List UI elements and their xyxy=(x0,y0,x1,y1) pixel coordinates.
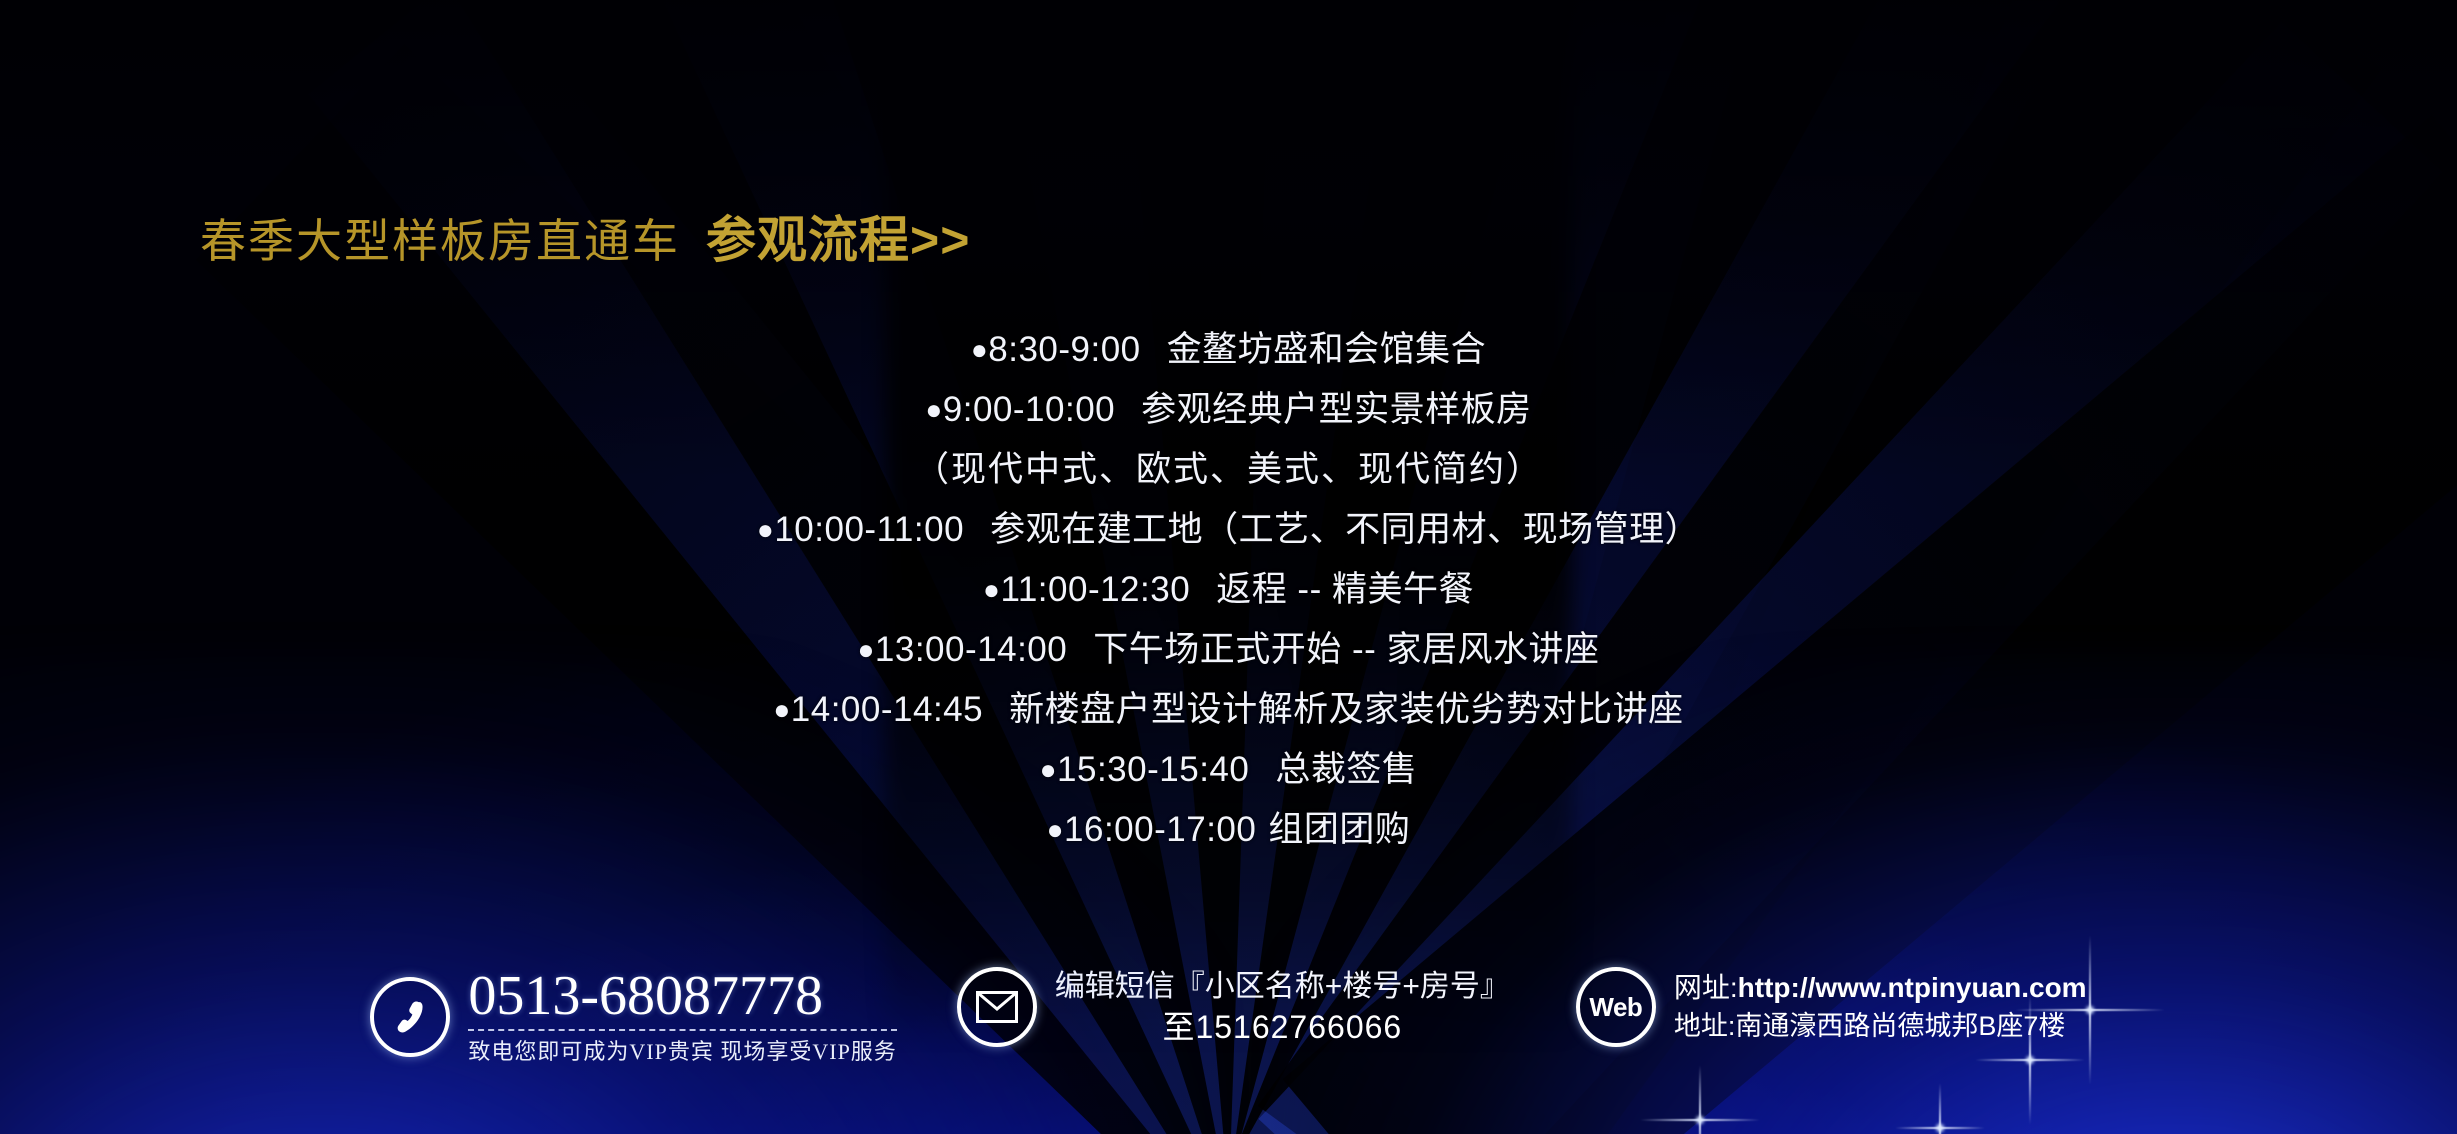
list-item: （现代中式、欧式、美式、现代简约） xyxy=(0,440,2457,500)
schedule-desc: （现代中式、欧式、美式、现代简约） xyxy=(914,450,1543,489)
schedule-desc: 金鳌坊盛和会馆集合 xyxy=(1167,330,1487,369)
web-icon-label: Web xyxy=(1589,994,1642,1020)
headline-main: 参观流程>> xyxy=(706,200,970,272)
schedule-desc: 参观经典户型实景样板房 xyxy=(1141,390,1532,429)
contact-phone[interactable]: 0513-68087778 致电您即可成为VIP贵宾 现场享受VIP服务 xyxy=(370,967,896,1066)
list-item: ●13:00-14:00下午场正式开始 -- 家居风水讲座 xyxy=(0,620,2457,680)
contact-sms[interactable]: 编辑短信『小区名称+楼号+房号』 编辑短信 至15162766066 xyxy=(957,967,1510,1047)
sms-text-block: 编辑短信『小区名称+楼号+房号』 编辑短信 至15162766066 xyxy=(1055,967,1510,1047)
list-item: ●15:30-15:40总裁签售 xyxy=(0,740,2457,800)
schedule-time: 13:00-14:00 xyxy=(875,630,1067,669)
sms-number[interactable]: 至15162766066 xyxy=(1055,1007,1510,1047)
divider xyxy=(468,1029,896,1031)
schedule-desc: 下午场正式开始 -- 家居风水讲座 xyxy=(1093,630,1599,669)
list-item: ●11:00-12:30返程 -- 精美午餐 xyxy=(0,560,2457,620)
website-line[interactable]: 网址:http://www.ntpinyuan.com xyxy=(1674,969,2087,1007)
schedule-list: ●8:30-9:00金鳌坊盛和会馆集合 ●9:00-10:00参观经典户型实景样… xyxy=(0,320,2457,860)
bullet-icon: ● xyxy=(757,514,774,545)
schedule-time: 8:30-9:00 xyxy=(988,330,1140,369)
schedule-time: 10:00-11:00 xyxy=(774,510,964,549)
headline-subtitle: 春季大型样板房直通车 xyxy=(200,205,680,271)
schedule-time: 9:00-10:00 xyxy=(943,390,1115,429)
schedule-time: 16:00-17:00 xyxy=(1064,810,1256,849)
list-item: ●16:00-17:00组团团购 xyxy=(0,800,2457,860)
envelope-icon xyxy=(957,967,1037,1047)
web-text-block: 网址:http://www.ntpinyuan.com 地址:南通濠西路尚德城邦… xyxy=(1674,969,2087,1045)
phone-text-block: 0513-68087778 致电您即可成为VIP贵宾 现场享受VIP服务 xyxy=(468,967,896,1066)
page-title: 春季大型样板房直通车 参观流程>> xyxy=(200,200,970,272)
bullet-icon: ● xyxy=(857,634,874,665)
website-label: 网址: xyxy=(1674,972,1738,1003)
schedule-desc: 新楼盘户型设计解析及家装优劣势对比讲座 xyxy=(1009,690,1684,729)
contact-web[interactable]: Web 网址:http://www.ntpinyuan.com 地址:南通濠西路… xyxy=(1576,967,2087,1047)
website-url[interactable]: http://www.ntpinyuan.com xyxy=(1738,972,2087,1003)
schedule-desc: 总裁签售 xyxy=(1275,750,1417,789)
schedule-desc: 返程 -- 精美午餐 xyxy=(1216,570,1474,609)
schedule-desc: 参观在建工地（工艺、不同用材、现场管理） xyxy=(990,510,1700,549)
phone-note: 致电您即可成为VIP贵宾 现场享受VIP服务 xyxy=(468,1034,896,1066)
schedule-desc: 组团团购 xyxy=(1268,810,1410,849)
web-icon: Web xyxy=(1576,967,1656,1047)
bullet-icon: ● xyxy=(925,394,942,425)
list-item: ●8:30-9:00金鳌坊盛和会馆集合 xyxy=(0,320,2457,380)
footer-contact-bar: 0513-68087778 致电您即可成为VIP贵宾 现场享受VIP服务 编辑短… xyxy=(0,967,2457,1066)
list-item: ●10:00-11:00参观在建工地（工艺、不同用材、现场管理） xyxy=(0,500,2457,560)
sms-instruction: 编辑短信『小区名称+楼号+房号』 xyxy=(1055,967,1510,1007)
schedule-time: 14:00-14:45 xyxy=(791,690,983,729)
phone-number[interactable]: 0513-68087778 xyxy=(468,967,896,1025)
bullet-icon: ● xyxy=(971,334,988,365)
office-address: 地址:南通濠西路尚德城邦B座7楼 xyxy=(1674,1007,2087,1045)
bullet-icon: ● xyxy=(1047,814,1064,845)
bullet-icon: ● xyxy=(773,694,790,725)
schedule-time: 11:00-12:30 xyxy=(1000,570,1190,609)
list-item: ●14:00-14:45新楼盘户型设计解析及家装优劣势对比讲座 xyxy=(0,680,2457,740)
schedule-time: 15:30-15:40 xyxy=(1057,750,1249,789)
poster-canvas: 春季大型样板房直通车 参观流程>> ●8:30-9:00金鳌坊盛和会馆集合 ●9… xyxy=(0,0,2457,1134)
bullet-icon: ● xyxy=(1040,754,1057,785)
list-item: ●9:00-10:00参观经典户型实景样板房 xyxy=(0,380,2457,440)
phone-icon xyxy=(370,977,450,1057)
bullet-icon: ● xyxy=(983,574,1000,605)
